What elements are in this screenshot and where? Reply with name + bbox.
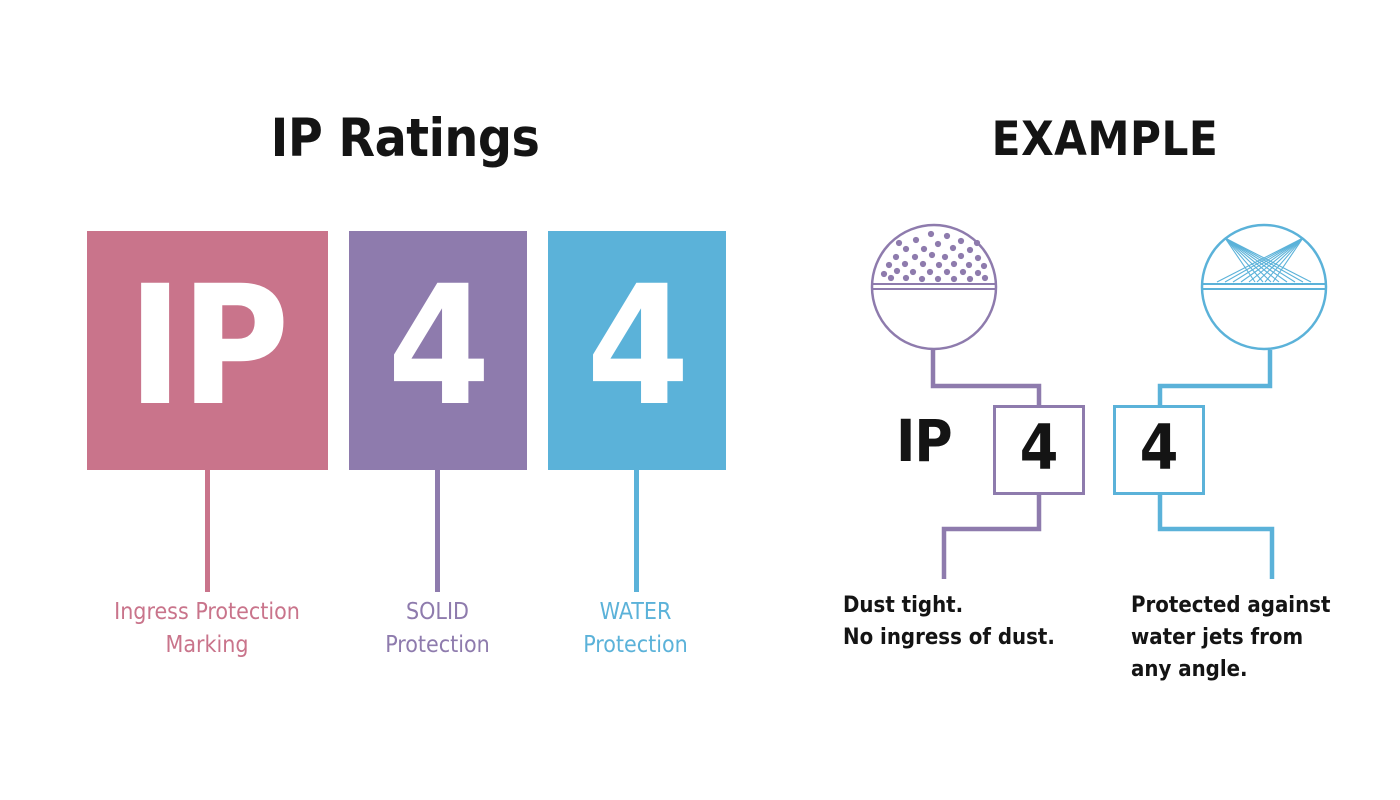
example-digit-solid: 4 bbox=[1020, 417, 1059, 479]
ip-block-caption-water: WATER Protection bbox=[528, 596, 743, 661]
connector-solid-box-to-description bbox=[930, 493, 1130, 583]
ip-block-glyph: IP bbox=[128, 264, 288, 429]
ip-block-glyph: 4 bbox=[387, 264, 488, 429]
example-title: EXAMPLE bbox=[845, 112, 1365, 167]
ip-block-caption-ingress: Ingress Protection Marking bbox=[62, 596, 352, 661]
connector-stem-solid bbox=[435, 470, 440, 592]
connector-stem-ingress bbox=[205, 470, 210, 592]
example-digit-box-water: 4 bbox=[1113, 405, 1205, 495]
example-ip-label: IP bbox=[896, 412, 952, 470]
connector-water-to-water-box bbox=[1140, 348, 1340, 410]
ip-block-glyph: 4 bbox=[586, 264, 687, 429]
water-jets-circle-icon bbox=[1199, 222, 1329, 352]
connector-dust-to-solid-box bbox=[860, 348, 1060, 410]
ip-block-water: 4 bbox=[548, 231, 726, 470]
example-digit-box-solid: 4 bbox=[993, 405, 1085, 495]
example-description-water: Protected against water jets from any an… bbox=[1131, 590, 1391, 686]
dust-particles-circle-icon bbox=[869, 222, 999, 352]
ip-block-caption-solid: SOLID Protection bbox=[330, 596, 545, 661]
example-digit-water: 4 bbox=[1140, 417, 1179, 479]
ip-block-ingress: IP bbox=[87, 231, 328, 470]
connector-stem-water bbox=[634, 470, 639, 592]
ip-block-solid: 4 bbox=[349, 231, 527, 470]
infographic-canvas: IP Ratings IP 4 4 Ingress Protection Mar… bbox=[0, 0, 1400, 800]
connector-water-box-to-description bbox=[1140, 493, 1340, 583]
example-description-solid: Dust tight. No ingress of dust. bbox=[843, 590, 1113, 654]
ip-ratings-title: IP Ratings bbox=[0, 108, 810, 169]
